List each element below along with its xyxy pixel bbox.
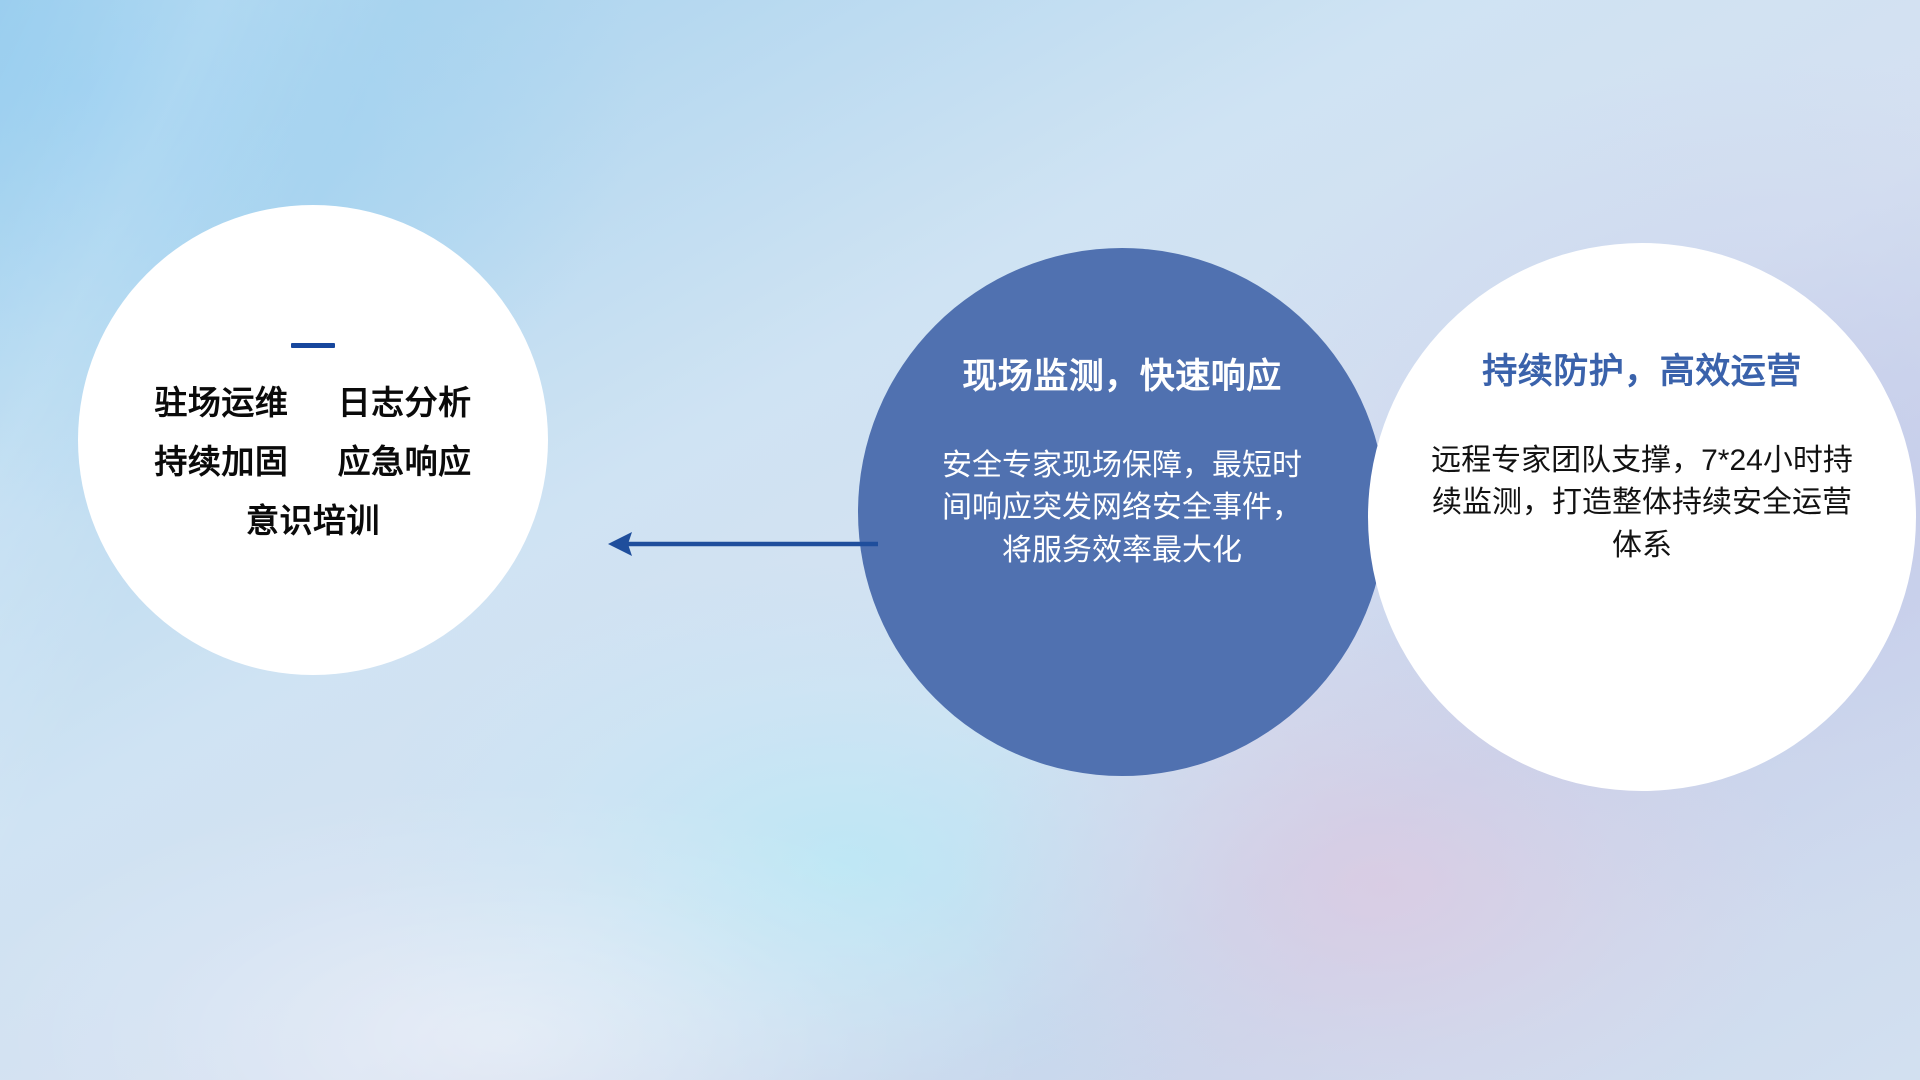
capability-label: 意识培训 bbox=[246, 502, 380, 539]
center-body-text: 安全专家现场保障，最短时间响应突发网络安全事件，将服务效率最大化 bbox=[932, 445, 1312, 573]
right-heading: 持续防护，高效运营 bbox=[1482, 353, 1802, 392]
center-heading: 现场监测，快速响应 bbox=[962, 358, 1282, 397]
left-capability-circle: 驻场运维 日志分析 持续加固 应急响应 意识培训 bbox=[78, 205, 548, 675]
list-item: 意识培训 bbox=[246, 504, 380, 537]
capability-label: 日志分析 bbox=[338, 384, 472, 421]
list-item: 驻场运维 日志分析 bbox=[154, 386, 471, 419]
divider-line bbox=[291, 343, 335, 348]
right-operations-circle: 持续防护，高效运营 远程专家团队支撑，7*24小时持续监测，打造整体持续安全运营… bbox=[1368, 243, 1916, 791]
capability-label: 应急响应 bbox=[338, 443, 472, 480]
arrow-left-icon bbox=[600, 522, 880, 566]
slide-canvas: 驻场运维 日志分析 持续加固 应急响应 意识培训 现场监测，快速响应 安全专家现… bbox=[0, 0, 1920, 1080]
capability-list: 驻场运维 日志分析 持续加固 应急响应 意识培训 bbox=[154, 386, 471, 537]
list-item: 持续加固 应急响应 bbox=[154, 445, 471, 478]
capability-label: 持续加固 bbox=[154, 443, 288, 480]
capability-label: 驻场运维 bbox=[154, 384, 288, 421]
center-onsite-circle: 现场监测，快速响应 安全专家现场保障，最短时间响应突发网络安全事件，将服务效率最… bbox=[858, 248, 1386, 776]
connector-arrow bbox=[600, 522, 880, 566]
right-body-text: 远程专家团队支撑，7*24小时持续监测，打造整体持续安全运营体系 bbox=[1427, 440, 1857, 568]
